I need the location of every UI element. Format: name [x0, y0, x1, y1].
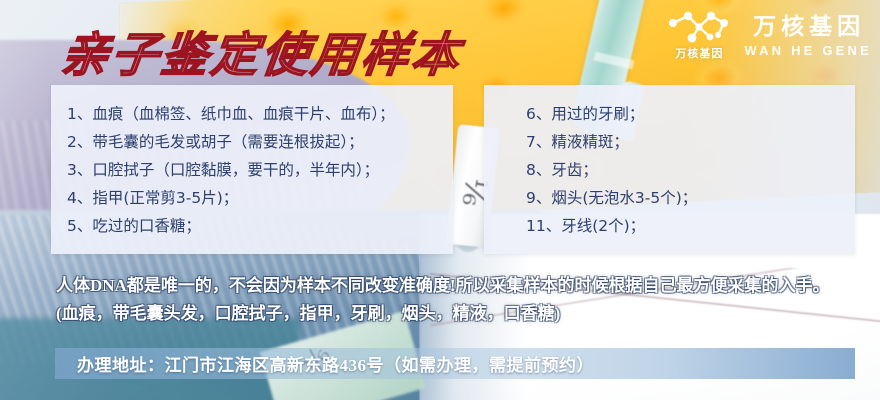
brand-name-cn: 万核基因 — [748, 15, 865, 38]
logo-mark-label: 万核基因 — [666, 45, 732, 61]
brand-logo[interactable]: 万核基因 万核基因 WAN HE GENE — [666, 12, 872, 60]
page-title: 亲子鉴定使用样本 — [58, 16, 466, 85]
list-item: 7、精液精斑； — [500, 128, 839, 156]
sample-list-panel-right: 6、用过的牙刷； 7、精液精斑； 8、牙齿； 9、烟头(无泡水3-5个)； 11… — [484, 85, 855, 254]
explanatory-note: 人体DNA都是唯一的，不会因为样本不同改变准确度!所以采集样本的时候根据自己最方… — [56, 272, 846, 328]
address-bar: 办理地址：江门市江海区高新东路436号（如需办理，需提前预约） — [55, 348, 855, 379]
list-item: 9、烟头(无泡水3-5个)； — [500, 184, 839, 212]
list-item: 3、口腔拭子（口腔黏膜，要干的，半年内）； — [67, 156, 437, 184]
list-item: 1、血痕（血棉签、纸巾血、血痕干片、血布）； — [67, 100, 437, 128]
brand-name-en: WAN HE GENE — [741, 44, 872, 57]
sample-list-left: 1、血痕（血棉签、纸巾血、血痕干片、血布）； 2、带毛囊的毛发或胡子（需要连根拔… — [67, 100, 437, 240]
list-item: 11、牙线(2个)； — [500, 212, 839, 240]
brand-wordmark: 万核基因 WAN HE GENE — [741, 15, 872, 57]
sample-list-panel-left: 1、血痕（血棉签、纸巾血、血痕干片、血布）； 2、带毛囊的毛发或胡子（需要连根拔… — [51, 85, 453, 254]
molecule-icon: 万核基因 — [666, 12, 732, 60]
list-item: 5、吃过的口香糖； — [67, 212, 437, 240]
poster-canvas: ⅙ ⅙ 亲子鉴定使用样本 — [0, 0, 880, 400]
list-item: 2、带毛囊的毛发或胡子（需要连根拔起）； — [67, 128, 437, 156]
sample-list-panels: 1、血痕（血棉签、纸巾血、血痕干片、血布）； 2、带毛囊的毛发或胡子（需要连根拔… — [51, 85, 855, 254]
list-item: 4、指甲(正常剪3-5片)； — [67, 184, 437, 212]
address-text: 办理地址：江门市江海区高新东路436号（如需办理，需提前预约） — [55, 351, 594, 376]
list-item: 8、牙齿； — [500, 156, 839, 184]
list-item: 6、用过的牙刷； — [500, 100, 839, 128]
sample-list-right: 6、用过的牙刷； 7、精液精斑； 8、牙齿； 9、烟头(无泡水3-5个)； 11… — [500, 100, 839, 240]
